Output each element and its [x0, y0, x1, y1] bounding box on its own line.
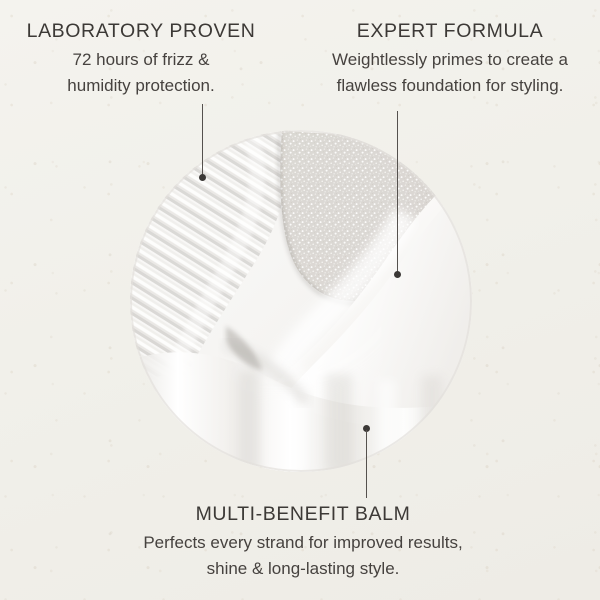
callout-body-multi-benefit-balm: Perfects every strand for improved resul…: [60, 530, 546, 581]
leader-line-balm: [366, 430, 367, 498]
callout-laboratory-proven: LABORATORY PROVEN 72 hours of frizz & hu…: [0, 20, 282, 98]
marker-dot-laboratory: [199, 174, 206, 181]
callout-body-line: 72 hours of frizz &: [0, 47, 282, 73]
callout-body-line: humidity protection.: [0, 73, 282, 99]
callout-heading-laboratory-proven: LABORATORY PROVEN: [0, 20, 282, 43]
callout-body-expert-formula: Weightlessly primes to create a flawless…: [300, 47, 600, 98]
leader-line-expert: [397, 111, 398, 274]
product-photo-circle: [130, 130, 472, 472]
callout-body-line: Perfects every strand for improved resul…: [60, 530, 546, 556]
marker-dot-expert: [394, 271, 401, 278]
callout-expert-formula: EXPERT FORMULA Weightlessly primes to cr…: [300, 20, 600, 98]
callout-heading-expert-formula: EXPERT FORMULA: [300, 20, 600, 43]
callout-body-line: Weightlessly primes to create a: [300, 47, 600, 73]
callout-body-line: flawless foundation for styling.: [300, 73, 600, 99]
callout-heading-multi-benefit-balm: MULTI-BENEFIT BALM: [60, 503, 546, 526]
callout-multi-benefit-balm: MULTI-BENEFIT BALM Perfects every strand…: [60, 503, 546, 581]
callout-body-laboratory-proven: 72 hours of frizz & humidity protection.: [0, 47, 282, 98]
leader-line-laboratory: [202, 104, 203, 177]
callout-body-line: shine & long-lasting style.: [60, 556, 546, 582]
